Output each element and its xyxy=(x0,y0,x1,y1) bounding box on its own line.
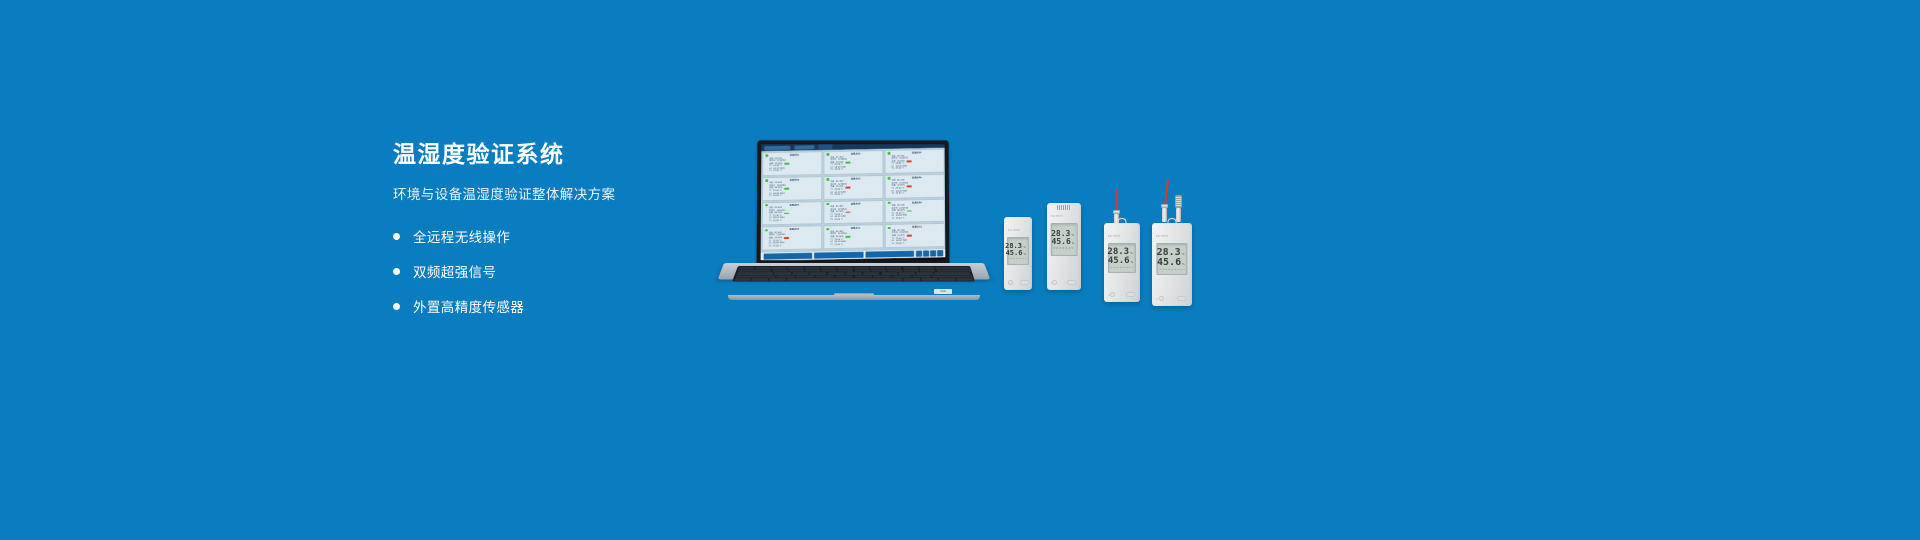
sensor-card-title: 监测点12 xyxy=(912,226,922,229)
laptop-lid: 监测点01设备RC-4HC序列号1230450电量75.00%T125.68 ℃… xyxy=(757,140,950,268)
probe-cable xyxy=(1116,189,1118,211)
device-brand-label: ELITECH xyxy=(1051,215,1063,218)
status-badge xyxy=(845,186,850,188)
key xyxy=(903,278,920,280)
sensor-card-title: 监测点07 xyxy=(790,203,800,206)
device-button-wide[interactable] xyxy=(1177,296,1186,301)
feature-label: 双频超强信号 xyxy=(413,261,496,281)
key xyxy=(815,275,833,277)
sensor-card[interactable]: 监测点03设备RC-4HC序列号1230470电量20.00%T126.80 ℃… xyxy=(884,149,944,174)
data-logger-vent: ELITECH 28.3 ℃ 45.6 % xyxy=(1047,203,1081,290)
status-led-icon xyxy=(888,202,891,205)
sensor-card-rows: 设备RC-4HC序列号1230470电量20.00%T126.80 ℃H160.… xyxy=(888,154,942,171)
sensor-card-rows: 设备RC-4HC序列号1230520电量23.00%T125.00 ℃H160.… xyxy=(826,205,880,222)
key xyxy=(921,278,938,280)
sensor-field-key: T2 xyxy=(892,243,895,246)
page-button[interactable] xyxy=(923,250,929,256)
device-button-row[interactable] xyxy=(1047,280,1081,285)
key xyxy=(788,267,804,269)
sensor-card[interactable]: 监测点07设备RC-4HC序列号1230510电量85.00%T125.00 ℃… xyxy=(762,201,822,226)
device-brand-label: ELITECH xyxy=(1008,229,1020,232)
feature-label: 全远程无线操作 xyxy=(413,226,510,246)
monitoring-dashboard: 监测点01设备RC-4HC序列号1230450电量75.00%T125.68 ℃… xyxy=(761,144,946,260)
status-badge xyxy=(784,188,789,190)
bullet-dot-icon xyxy=(393,303,400,310)
key xyxy=(919,267,935,269)
footer-button-export[interactable] xyxy=(814,252,863,259)
key xyxy=(835,275,853,277)
status-badge xyxy=(906,185,911,187)
page-title: 温湿度验证系统 xyxy=(393,142,723,170)
list-item: 双频超强信号 xyxy=(393,261,723,281)
bullet-dot-icon xyxy=(393,268,400,275)
laptop-bezel: 监测点01设备RC-4HC序列号1230450电量75.00%T125.68 ℃… xyxy=(761,144,946,260)
key xyxy=(822,270,837,272)
sensor-card-rows: 设备RC-4HC序列号1230490电量25.00%T125.00 ℃H160.… xyxy=(826,180,880,197)
sensor-card-rows: 设备RC-4HC序列号1230550电量90.00%T125.00 ℃H160.… xyxy=(826,230,880,247)
key xyxy=(755,267,771,269)
sensor-card-rows: 设备RC-4HC序列号1230530电量88.00%T125.00 ℃H160.… xyxy=(888,204,942,221)
key xyxy=(912,275,931,277)
feature-list: 全远程无线操作 双频超强信号 外置高精度传感器 xyxy=(393,226,723,316)
keyboard-row xyxy=(738,267,969,269)
sensor-card-title: 监测点08 xyxy=(851,202,861,205)
keyboard-row xyxy=(737,270,970,272)
key xyxy=(828,273,845,275)
data-logger-external-sensor-b: ELITECH 28.3 ℃ 45.6 % xyxy=(1152,223,1192,306)
key xyxy=(916,273,933,275)
sensor-vent-icon xyxy=(1057,205,1071,210)
lcd-humidity-row: 45.6 % xyxy=(1010,250,1026,257)
sensor-card[interactable]: 监测点09设备RC-4HC序列号1230530电量88.00%T125.00 ℃… xyxy=(885,198,945,223)
sensor-card-rows: 设备RC-4HC序列号1230480电量80.00%T125.00 ℃H160.… xyxy=(765,181,819,198)
sensor-field-value: 25.00 ℃ xyxy=(896,243,905,246)
device-button[interactable] xyxy=(1008,280,1013,285)
keyboard-row xyxy=(735,275,972,277)
lcd-humidity-row: 45.6 % xyxy=(1054,238,1075,246)
key xyxy=(854,270,869,272)
key xyxy=(893,275,911,277)
sensor-card-title: 监测点05 xyxy=(851,177,861,180)
toolbar-tab[interactable] xyxy=(818,144,832,149)
key xyxy=(956,278,973,280)
key xyxy=(810,273,827,275)
status-led-icon xyxy=(888,226,891,229)
humidity-unit: % xyxy=(1072,242,1074,245)
sensor-field-value: 25.00 ℃ xyxy=(773,220,782,223)
device-lcd-display: 28.3 ℃ 45.6 % xyxy=(1156,243,1187,275)
key xyxy=(805,270,821,272)
device-group: ELITECH 28.3 ℃ 45.6 % ELIT xyxy=(1000,180,1230,310)
probe-cable xyxy=(1164,179,1169,205)
sensor-field-key: T2 xyxy=(892,168,895,171)
key xyxy=(769,278,786,280)
probe-mesh-tip-icon xyxy=(1175,195,1182,208)
sensor-card[interactable]: 监测点12设备RC-4HC序列号1230560电量21.00%T125.00 ℃… xyxy=(885,223,946,248)
humidity-value: 45.6 xyxy=(1157,258,1181,268)
key xyxy=(837,267,852,269)
sensor-field-value: 25.00 ℃ xyxy=(834,219,843,222)
status-led-icon xyxy=(765,154,768,157)
sensor-field-key: T2 xyxy=(892,218,895,221)
sensor-card-title: 监测点01 xyxy=(790,154,800,157)
sensor-card-row: T225.00 ℃ xyxy=(830,218,880,222)
data-logger-compact: ELITECH 28.3 ℃ 45.6 % xyxy=(1004,217,1032,290)
status-led-icon xyxy=(826,203,829,206)
key xyxy=(752,278,769,280)
key xyxy=(904,270,920,272)
key xyxy=(934,273,971,275)
sensor-field-value: 25.00 ℃ xyxy=(773,245,782,248)
list-item: 外置高精度传感器 xyxy=(393,296,723,316)
sensor-card-title: 监测点02 xyxy=(851,152,861,155)
status-led-icon xyxy=(888,152,891,155)
key xyxy=(854,275,872,277)
device-button-row[interactable] xyxy=(1152,296,1192,301)
key xyxy=(863,273,880,275)
key xyxy=(871,270,886,272)
device-button-wide[interactable] xyxy=(1126,292,1135,297)
temperature-unit: ℃ xyxy=(1023,246,1026,249)
sensor-field-value: 25.00 ℃ xyxy=(896,193,905,196)
key xyxy=(792,273,809,275)
sensor-card-rows: 设备RC-4HC序列号1230560电量21.00%T125.00 ℃H160.… xyxy=(888,229,942,246)
sensor-card[interactable]: 监测点11设备RC-4HC序列号1230550电量90.00%T125.00 ℃… xyxy=(823,224,883,249)
sensor-field-key: T2 xyxy=(769,220,772,223)
page-button[interactable] xyxy=(930,250,936,256)
temperature-unit: ℃ xyxy=(1071,234,1074,237)
key xyxy=(939,278,956,280)
humidity-value: 45.6 xyxy=(1006,250,1023,257)
device-button-row[interactable] xyxy=(1004,280,1032,285)
product-banner: 温湿度验证系统 环境与设备温湿度验证整体解决方案 全远程无线操作 双频超强信号 … xyxy=(0,0,1920,540)
sensor-field-key: T2 xyxy=(769,245,772,248)
lcd-humidity-row: 45.6 % xyxy=(1159,258,1184,268)
device-button[interactable] xyxy=(1159,296,1164,301)
device-brand-label: ELITECH xyxy=(1156,235,1168,238)
sensor-card[interactable]: 监测点10设备RC-4HC序列号1230540电量24.00%T125.00 ℃… xyxy=(762,225,823,250)
status-led-icon xyxy=(826,228,829,231)
key xyxy=(789,270,805,272)
sensor-card-row: T225.00 ℃ xyxy=(830,168,880,172)
key xyxy=(776,275,795,277)
key xyxy=(821,267,836,269)
device-button-wide[interactable] xyxy=(1020,280,1029,285)
key xyxy=(734,278,751,280)
key xyxy=(874,275,892,277)
key xyxy=(887,270,902,272)
key xyxy=(920,270,936,272)
sensor-field-key: T2 xyxy=(769,171,772,174)
sensor-card-title: 监测点03 xyxy=(912,151,922,154)
bullet-dot-icon xyxy=(393,233,400,240)
key xyxy=(935,267,969,269)
laptop-keyboard[interactable] xyxy=(732,266,975,281)
sensor-card-title: 监测点09 xyxy=(912,201,922,204)
status-led-icon xyxy=(826,178,829,181)
lcd-humidity-row: 45.6 % xyxy=(1111,257,1133,266)
lcd-segment-bar xyxy=(1010,258,1026,260)
key xyxy=(735,275,776,277)
sensor-card-row: T225.00 ℃ xyxy=(830,193,880,197)
sensor-field-value: 25.00 ℃ xyxy=(834,194,843,197)
sensor-card-row: T225.00 ℃ xyxy=(892,192,942,196)
sensor-card-title: 监测点06 xyxy=(912,176,922,179)
device-button-row[interactable] xyxy=(1104,292,1140,297)
page-button[interactable] xyxy=(937,250,943,256)
key xyxy=(796,275,815,277)
status-badge xyxy=(845,162,850,164)
key xyxy=(838,270,853,272)
sensor-card-title: 监测点10 xyxy=(789,228,799,231)
sensor-card-rows: 设备RC-4HC序列号1230540电量24.00%T125.00 ℃H160.… xyxy=(765,231,819,248)
sensor-card-title: 监测点11 xyxy=(851,227,861,230)
device-lcd-display: 28.3 ℃ 45.6 % xyxy=(1108,243,1136,273)
lcd-segment-bar xyxy=(1054,247,1075,249)
status-led-icon xyxy=(826,153,829,156)
key xyxy=(774,273,791,275)
sensor-field-key: T2 xyxy=(769,195,772,198)
status-led-icon xyxy=(765,204,768,207)
probe-stem xyxy=(1162,208,1167,222)
sensor-card-row: T225.00 ℃ xyxy=(830,243,880,247)
humidity-unit: % xyxy=(1182,263,1184,266)
sensor-field-key: T2 xyxy=(892,193,895,196)
lcd-segment-bar xyxy=(1111,267,1133,269)
laptop-illustration: 监测点01设备RC-4HC序列号1230450电量75.00%T125.68 ℃… xyxy=(718,140,990,300)
sensor-field-key: T2 xyxy=(830,169,833,172)
key xyxy=(870,267,885,269)
key xyxy=(736,273,773,275)
keyboard-row xyxy=(734,278,973,280)
key xyxy=(886,267,901,269)
sensor-card-row: T225.00 ℃ xyxy=(769,244,819,248)
laptop-front-edge xyxy=(728,295,980,300)
sensor-card-rows: 设备RC-4HC序列号1230500电量22.00%T125.00 ℃H160.… xyxy=(888,179,942,196)
device-lcd-display: 28.3 ℃ 45.6 % xyxy=(1007,237,1029,265)
spacebar-key xyxy=(787,278,902,280)
key xyxy=(772,270,788,272)
sensor-card[interactable]: 监测点08设备RC-4HC序列号1230520电量23.00%T125.00 ℃… xyxy=(823,199,883,224)
temperature-unit: ℃ xyxy=(1182,253,1185,256)
key xyxy=(737,270,771,272)
humidity-unit: % xyxy=(1131,261,1133,264)
sensor-card[interactable]: 监测点05设备RC-4HC序列号1230490电量25.00%T125.00 ℃… xyxy=(823,175,883,200)
data-logger-external-sensor-a: ELITECH 28.3 ℃ 45.6 % xyxy=(1104,223,1140,302)
toolbar-menu-items[interactable] xyxy=(764,145,790,149)
humidity-unit: % xyxy=(1023,253,1025,256)
key xyxy=(845,273,862,275)
page-subtitle: 环境与设备温湿度验证整体解决方案 xyxy=(393,187,723,205)
status-badge xyxy=(784,163,789,165)
status-badge xyxy=(845,236,850,238)
sensor-field-value: 25.00 ℃ xyxy=(896,168,905,171)
device-brand-label: ELITECH xyxy=(1108,235,1120,238)
footer-button-settings[interactable] xyxy=(865,251,914,258)
sensor-field-key: T2 xyxy=(830,194,833,197)
key xyxy=(881,273,898,275)
page-button[interactable] xyxy=(916,251,922,257)
sensor-field-value: 25.00 ℃ xyxy=(896,218,905,221)
list-item: 全远程无线操作 xyxy=(393,226,723,246)
sensor-card[interactable]: 监测点02设备RC-4HC序列号1230460电量78.00%T125.00 ℃… xyxy=(823,150,883,175)
sensor-field-value: 25.00 ℃ xyxy=(773,170,782,173)
device-lcd-display: 28.3 ℃ 45.6 % xyxy=(1051,223,1078,256)
sensor-card-rows: 设备RC-4HC序列号1230450电量75.00%T125.68 ℃H160.… xyxy=(765,157,819,174)
key xyxy=(899,273,916,275)
sensor-field-value: 25.00 ℃ xyxy=(773,195,782,198)
sensor-card-row: T225.00 ℃ xyxy=(892,242,942,246)
key xyxy=(903,267,919,269)
sensor-card-rows: 设备RC-4HC序列号1230460电量78.00%T125.00 ℃H158.… xyxy=(826,155,880,172)
sensor-field-key: T2 xyxy=(830,219,833,222)
feature-label: 外置高精度传感器 xyxy=(413,296,524,316)
laptop-sticker: Intel xyxy=(934,289,952,294)
toolbar-menu-items-2[interactable] xyxy=(794,145,814,149)
sensor-card[interactable]: 监测点01设备RC-4HC序列号1230450电量75.00%T125.68 ℃… xyxy=(762,151,822,176)
sensor-field-value: 25.00 ℃ xyxy=(834,169,843,172)
device-button[interactable] xyxy=(1110,292,1115,297)
key xyxy=(738,267,754,269)
banner-copy: 温湿度验证系统 环境与设备温湿度验证整体解决方案 全远程无线操作 双频超强信号 … xyxy=(393,142,723,331)
status-led-icon xyxy=(765,179,768,182)
status-led-icon xyxy=(888,177,891,180)
key xyxy=(936,270,970,272)
humidity-value: 45.6 xyxy=(1052,238,1071,246)
sensor-card-row: T225.00 ℃ xyxy=(769,170,819,174)
probe-stem xyxy=(1176,208,1181,222)
key xyxy=(932,275,973,277)
temperature-unit: ℃ xyxy=(1130,252,1133,255)
humidity-value: 45.6 xyxy=(1108,257,1130,266)
sensor-card-grid: 监测点01设备RC-4HC序列号1230450电量75.00%T125.68 ℃… xyxy=(761,148,946,252)
sensor-field-value: 25.00 ℃ xyxy=(834,244,843,247)
status-led-icon xyxy=(765,229,768,232)
key xyxy=(771,267,787,269)
footer-button-refresh[interactable] xyxy=(764,253,813,260)
sensor-field-key: T2 xyxy=(830,244,833,247)
sensor-card-rows: 设备RC-4HC序列号1230510电量85.00%T125.00 ℃H160.… xyxy=(765,206,819,223)
device-button-wide[interactable] xyxy=(1067,280,1076,285)
lcd-segment-bar xyxy=(1159,269,1184,271)
sensor-card-row: T225.00 ℃ xyxy=(769,219,819,223)
sensor-card-row: T225.00 ℃ xyxy=(892,217,942,221)
sensor-card-row: T225.00 ℃ xyxy=(892,167,942,171)
sensor-card[interactable]: 监测点04设备RC-4HC序列号1230480电量80.00%T125.00 ℃… xyxy=(762,176,822,201)
keyboard-row xyxy=(736,273,971,275)
key xyxy=(854,267,869,269)
sensor-card-row: T225.00 ℃ xyxy=(769,194,819,198)
status-badge xyxy=(906,160,911,162)
sensor-card-title: 监测点04 xyxy=(790,178,800,181)
device-button[interactable] xyxy=(1052,280,1057,285)
key xyxy=(804,267,820,269)
pagination[interactable] xyxy=(916,250,943,257)
sensor-card[interactable]: 监测点06设备RC-4HC序列号1230500电量22.00%T125.00 ℃… xyxy=(885,173,945,198)
